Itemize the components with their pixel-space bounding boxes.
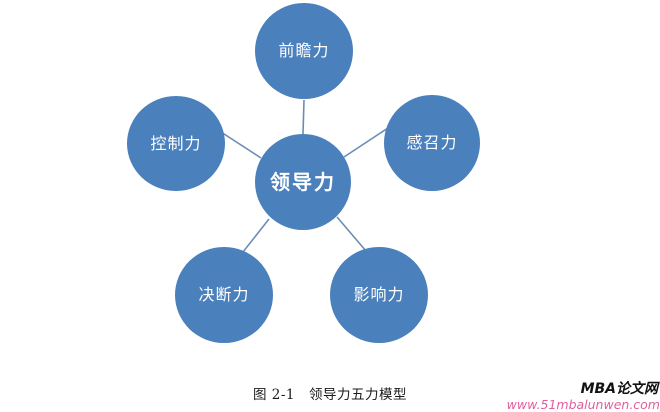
node-qianzhanli[interactable]: 前瞻力 [255, 3, 353, 99]
edge-hub-botright [337, 217, 366, 251]
node-ganzhaoli[interactable]: 感召力 [384, 95, 480, 191]
watermark: MBA论文网 www.51mbalunwen.com [507, 382, 658, 411]
watermark-brand: MBA论文网 [507, 382, 658, 397]
node-yingxiangli[interactable]: 影响力 [330, 247, 428, 343]
figure-number: 图 2-1 [253, 387, 295, 403]
node-label: 决断力 [198, 286, 249, 304]
node-kongzhili[interactable]: 控制力 [127, 96, 225, 191]
node-lingdaoli-hub[interactable]: 领导力 [255, 134, 351, 230]
node-label: 影响力 [353, 286, 404, 304]
leadership-five-force-diagram: 前瞻力 感召力 控制力 影响力 决断力 领导力 [0, 0, 660, 370]
node-label: 前瞻力 [278, 42, 329, 60]
edge-hub-botleft [243, 219, 269, 252]
watermark-url: www.51mbalunwen.com [507, 398, 660, 411]
node-label: 控制力 [150, 135, 201, 153]
node-jueduanli[interactable]: 决断力 [175, 247, 273, 343]
figure-title: 领导力五力模型 [309, 387, 407, 403]
page-canvas: 前瞻力 感召力 控制力 影响力 决断力 领导力 图 2-1领导力五力模型 MBA… [0, 0, 660, 412]
hub-label: 领导力 [270, 171, 336, 193]
node-label: 感召力 [406, 134, 457, 152]
edge-hub-top [303, 100, 304, 134]
edge-hub-left [221, 132, 261, 158]
edge-hub-right [344, 128, 388, 157]
